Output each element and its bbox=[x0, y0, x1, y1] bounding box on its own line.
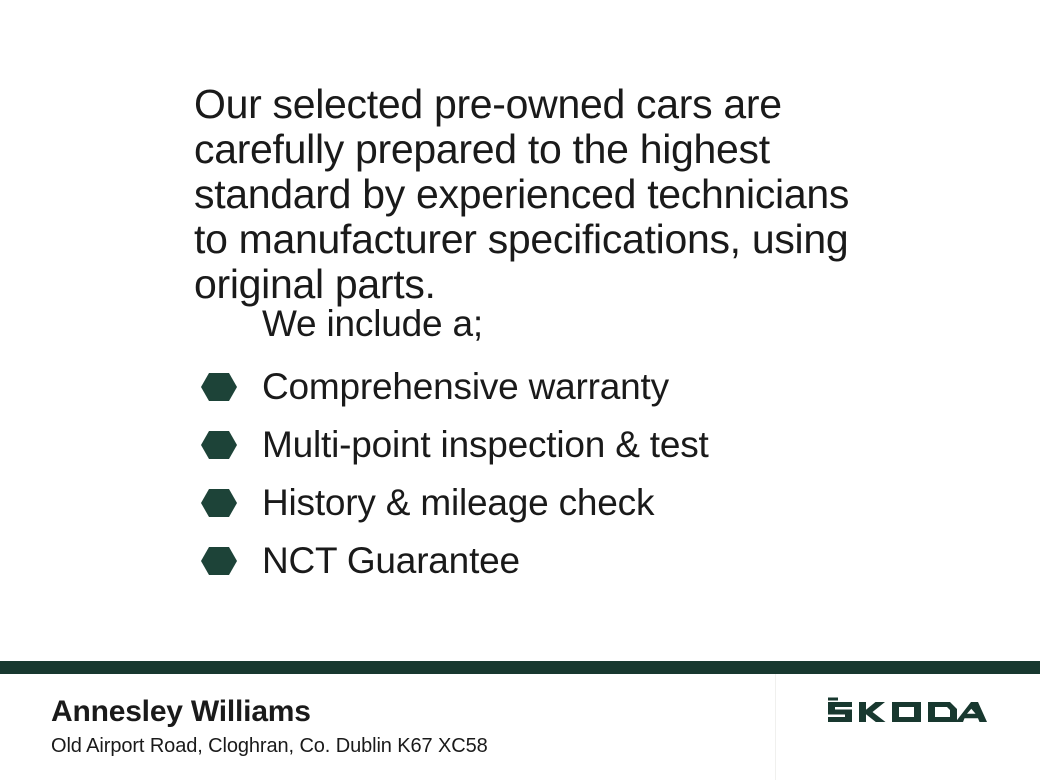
list-item-label: History & mileage check bbox=[262, 483, 654, 523]
headline-text: Our selected pre-owned cars are carefull… bbox=[194, 82, 894, 307]
hexagon-bullet-icon bbox=[200, 488, 238, 518]
list-item: Comprehensive warranty bbox=[200, 358, 900, 416]
skoda-wordmark-logo bbox=[826, 695, 988, 729]
list-item-label: Comprehensive warranty bbox=[262, 367, 669, 407]
dealer-address: Old Airport Road, Cloghran, Co. Dublin K… bbox=[51, 733, 488, 759]
hexagon-bullet-icon bbox=[200, 430, 238, 460]
slide-canvas: Our selected pre-owned cars are carefull… bbox=[0, 0, 1040, 780]
dealer-name: Annesley Williams bbox=[51, 694, 311, 730]
hexagon-bullet-icon bbox=[200, 546, 238, 576]
list-item-label: NCT Guarantee bbox=[262, 541, 520, 581]
footer-panel-divider bbox=[775, 674, 776, 780]
benefits-list: Comprehensive warranty Multi-point inspe… bbox=[200, 358, 900, 590]
include-heading: We include a; bbox=[262, 302, 483, 346]
footer-divider-band bbox=[0, 661, 1040, 674]
list-item: History & mileage check bbox=[200, 474, 900, 532]
list-item: Multi-point inspection & test bbox=[200, 416, 900, 474]
list-item: NCT Guarantee bbox=[200, 532, 900, 590]
list-item-label: Multi-point inspection & test bbox=[262, 425, 709, 465]
hexagon-bullet-icon bbox=[200, 372, 238, 402]
